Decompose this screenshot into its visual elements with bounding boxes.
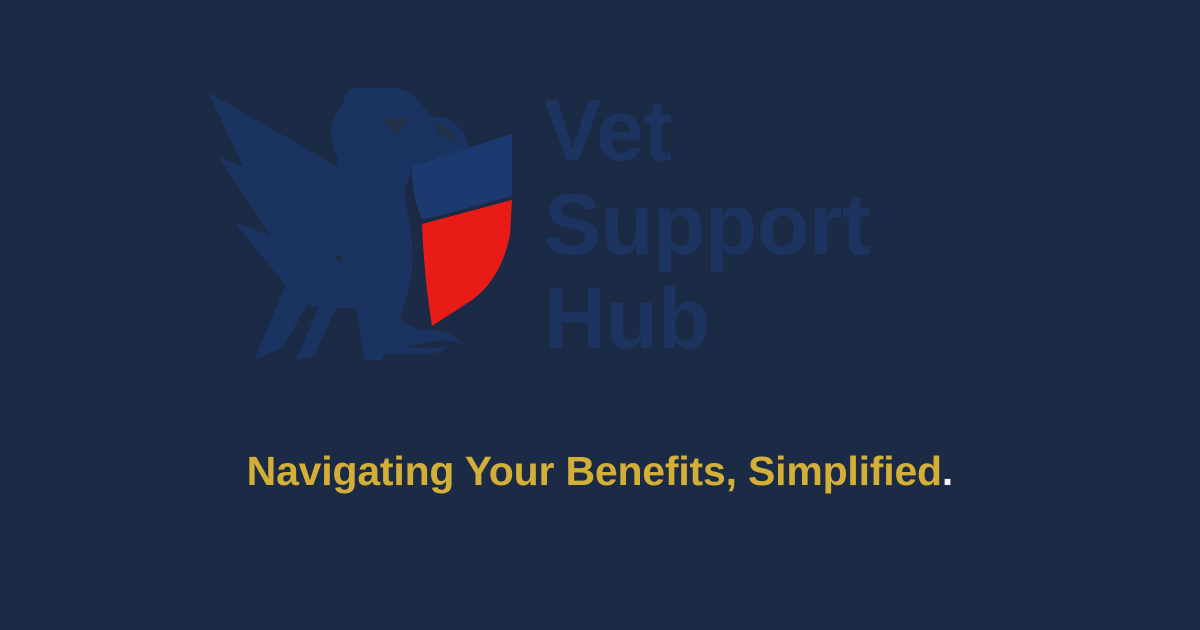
wordmark-line-3: Hub [544,272,870,366]
brand-logo-lockup: Vet Support Hub [196,78,1006,374]
tagline-text: Navigating Your Benefits, Simplified [247,448,942,494]
eagle-emblem-icon [196,78,526,368]
tagline-terminal-period: . [942,448,953,494]
wordmark-line-2: Support [544,178,870,272]
wordmark-line-1: Vet [544,84,870,178]
tagline: Navigating Your Benefits, Simplified. [0,446,1200,496]
og-card: Vet Support Hub Navigating Your Benefits… [0,0,1200,630]
brand-wordmark: Vet Support Hub [544,84,870,366]
